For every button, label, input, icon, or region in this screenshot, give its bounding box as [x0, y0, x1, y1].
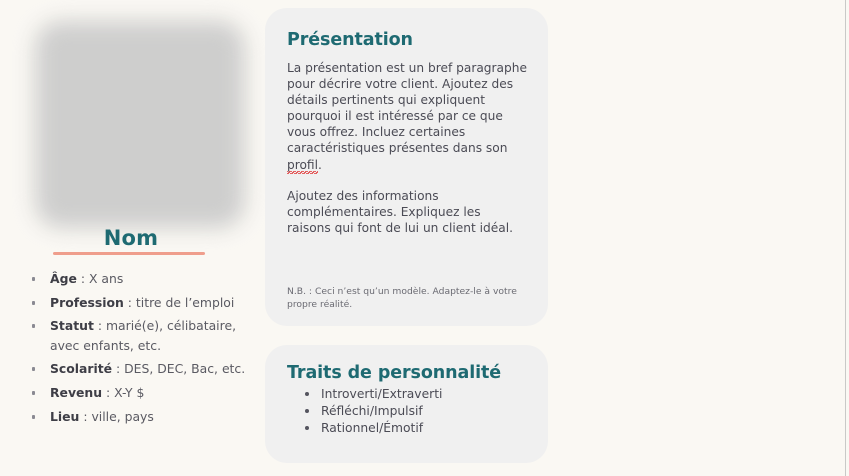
list-item: Scolarité : DES, DEC, Bac, etc. — [28, 359, 260, 379]
presentation-paragraph-1: La présentation est un bref paragraphe p… — [287, 60, 527, 173]
fact-label: Âge — [50, 271, 77, 286]
presentation-paragraph-1-text: La présentation est un bref paragraphe p… — [287, 61, 527, 155]
presentation-card-note: N.B. : Ceci n’est qu’un modèle. Adaptez-… — [287, 285, 527, 311]
list-item: Lieu : ville, pays — [28, 407, 260, 427]
persona-name: Nom — [0, 226, 262, 250]
bullet-dot-icon — [305, 392, 309, 396]
persona-photo-placeholder[interactable] — [35, 21, 245, 228]
list-item: Réfléchi/Impulsif — [305, 403, 535, 420]
presentation-card: Présentation La présentation est un bref… — [265, 8, 548, 326]
presentation-paragraph-1-period: . — [318, 158, 322, 172]
persona-template-page: Nom Âge : X ans Profession : titre de l’… — [0, 0, 849, 476]
fact-value: : X-Y $ — [106, 385, 144, 400]
fact-value: : ville, pays — [83, 409, 154, 424]
presentation-paragraph-2: Ajoutez des informations complémentaires… — [287, 188, 527, 236]
bullet-marker-icon — [32, 277, 35, 281]
persona-name-underline-rule — [53, 252, 205, 255]
fact-value: : titre de l’emploi — [128, 295, 235, 310]
fact-label: Statut — [50, 318, 94, 333]
list-item: Revenu : X-Y $ — [28, 383, 260, 403]
list-item: Âge : X ans — [28, 269, 260, 289]
persona-left-column: Nom Âge : X ans Profession : titre de l’… — [0, 0, 262, 476]
presentation-card-title: Présentation — [287, 30, 413, 50]
fact-label: Lieu — [50, 409, 79, 424]
fact-label: Profession — [50, 295, 124, 310]
traits-card-title: Traits de personnalité — [287, 363, 501, 383]
trait-label: Rationnel/Émotif — [321, 421, 423, 435]
fact-value: : X ans — [81, 271, 123, 286]
fact-value: : DES, DEC, Bac, etc. — [116, 361, 245, 376]
trait-label: Introverti/Extraverti — [321, 387, 442, 401]
trait-label: Réfléchi/Impulsif — [321, 404, 423, 418]
persona-facts-list: Âge : X ans Profession : titre de l’empl… — [28, 269, 260, 430]
misspelled-word-profil[interactable]: profil — [287, 158, 318, 174]
bullet-dot-icon — [305, 409, 309, 413]
fact-label: Scolarité — [50, 361, 112, 376]
personality-traits-list: Introverti/Extraverti Réfléchi/Impulsif … — [305, 386, 535, 437]
bullet-dot-icon — [305, 426, 309, 430]
bullet-marker-icon — [32, 415, 35, 419]
page-right-edge-rule — [845, 0, 846, 476]
list-item: Profession : titre de l’emploi — [28, 293, 260, 313]
bullet-marker-icon — [32, 301, 35, 305]
list-item: Rationnel/Émotif — [305, 420, 535, 437]
list-item: Statut : marié(e), célibataire, avec enf… — [28, 316, 260, 355]
bullet-marker-icon — [32, 367, 35, 371]
fact-label: Revenu — [50, 385, 102, 400]
bullet-marker-icon — [32, 391, 35, 395]
personality-traits-card: Traits de personnalité Introverti/Extrav… — [265, 345, 548, 463]
bullet-marker-icon — [32, 324, 35, 328]
list-item: Introverti/Extraverti — [305, 386, 535, 403]
